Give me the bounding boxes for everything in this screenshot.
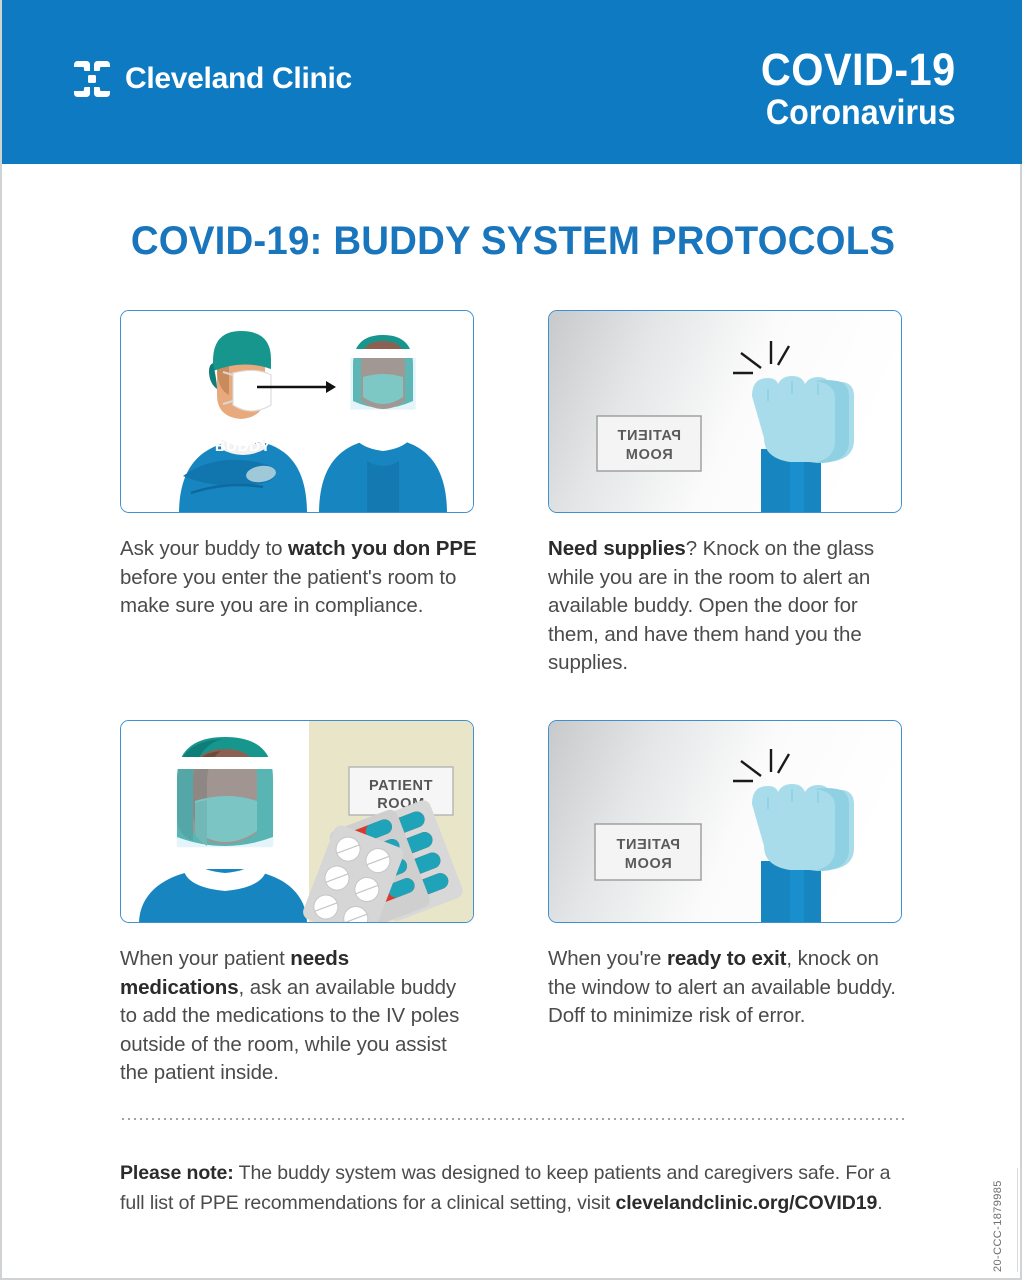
svg-text:PATIENT: PATIENT bbox=[369, 778, 433, 794]
footer-dotted-divider bbox=[120, 1118, 906, 1120]
sign-patient-room: PATIENT ROOM bbox=[349, 767, 453, 815]
illustration-worker-and-medications: PATIENT ROOM bbox=[120, 720, 474, 923]
panel-ready-to-exit: PATIENT ROOM bbox=[548, 720, 906, 1031]
header-title-block: COVID-19 Coronavirus bbox=[744, 46, 956, 132]
header-title-covid: COVID-19 bbox=[761, 46, 956, 93]
document-code: 20-CCC-1879985 bbox=[992, 1168, 1018, 1272]
illustration-two-workers-buddy: BUDDY bbox=[120, 310, 474, 513]
caption-text-bold-1: ready to exit bbox=[667, 947, 786, 970]
footer-note-url[interactable]: clevelandclinic.org/COVID19 bbox=[615, 1192, 877, 1214]
svg-text:PATIENT: PATIENT bbox=[617, 428, 681, 444]
header-title-coronavirus: Coronavirus bbox=[761, 93, 956, 132]
caption-text-bold-1: Need supplies bbox=[548, 537, 686, 560]
sign-patient-room-mirrored: PATIENT ROOM bbox=[595, 824, 701, 880]
footer-note: Please note: The buddy system was design… bbox=[120, 1158, 910, 1218]
fist-icon bbox=[752, 784, 854, 871]
footer-note-period: . bbox=[877, 1192, 882, 1214]
caption-text-plain-2: before you enter the patient's room to m… bbox=[120, 566, 456, 618]
illustration-knock-on-window: PATIENT ROOM bbox=[548, 720, 902, 923]
caption-text-bold-1: watch you don PPE bbox=[288, 537, 477, 560]
sign-patient-room-mirrored: PATIENT ROOM bbox=[597, 416, 701, 471]
cleveland-clinic-pinwheel-logo-icon bbox=[72, 59, 112, 99]
caption-text-plain-1: When your patient bbox=[120, 947, 290, 970]
caption-need-supplies: Need supplies? Knock on the glass while … bbox=[548, 535, 906, 678]
panel-need-supplies: PATIENT ROOM bbox=[548, 310, 906, 678]
panel-don-ppe: BUDDY bbox=[120, 310, 478, 621]
caption-don-ppe: Ask your buddy to watch you don PPE befo… bbox=[120, 535, 478, 621]
panel-needs-medications: PATIENT ROOM bbox=[120, 720, 478, 1088]
caption-text-plain-1: Ask your buddy to bbox=[120, 537, 288, 560]
illustration-knock-on-glass: PATIENT ROOM bbox=[548, 310, 902, 513]
caption-needs-medications: When your patient needs medications, ask… bbox=[120, 945, 478, 1088]
svg-text:ROOM: ROOM bbox=[625, 447, 673, 463]
fist-icon bbox=[752, 376, 854, 463]
brand-name: Cleveland Clinic bbox=[125, 62, 352, 96]
svg-text:ROOM: ROOM bbox=[624, 856, 672, 872]
footer-note-label: Please note: bbox=[120, 1162, 234, 1184]
svg-text:PATIENT: PATIENT bbox=[616, 837, 680, 853]
svg-text:BUDDY: BUDDY bbox=[215, 438, 271, 455]
infographic-page: Cleveland Clinic COVID-19 Coronavirus CO… bbox=[0, 0, 1022, 1280]
brand-lockup: Cleveland Clinic bbox=[72, 59, 352, 99]
page-header: Cleveland Clinic COVID-19 Coronavirus bbox=[2, 0, 1022, 164]
caption-text-plain-1: When you're bbox=[548, 947, 667, 970]
caption-ready-to-exit: When you're ready to exit, knock on the … bbox=[548, 945, 906, 1031]
page-title: COVID-19: BUDDY SYSTEM PROTOCOLS bbox=[22, 219, 1003, 264]
